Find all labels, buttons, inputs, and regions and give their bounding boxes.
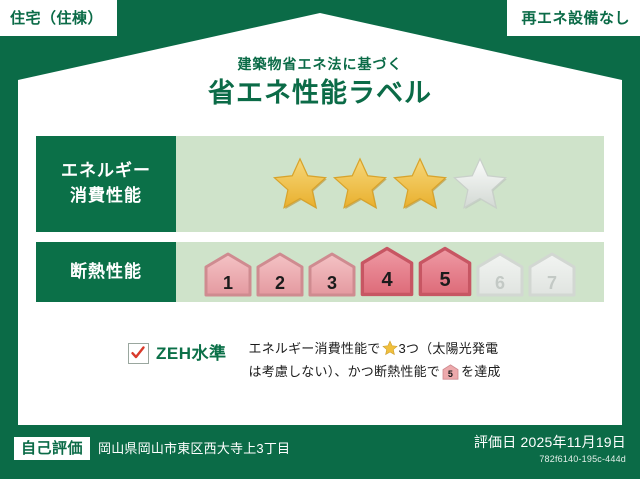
- footer-right: 評価日 2025年11月19日 782f6140-195c-444d: [474, 433, 626, 466]
- chip-building-type-label: 住宅（住棟）: [10, 11, 103, 26]
- zeh-desc-star-count: 3つ（太陽光発電: [399, 341, 499, 356]
- evaluation-date-value: 2025年11月19日: [521, 434, 626, 450]
- zeh-desc-part2: は考慮しない）、かつ断熱性能で: [249, 364, 441, 379]
- chip-renewable-energy-label: 再エネ設備なし: [521, 11, 630, 26]
- title-block: 建築物省エネ法に基づく 省エネ性能ラベル: [0, 56, 640, 111]
- row-insulation-label-line1: 断熱性能: [70, 260, 142, 285]
- insulation-level-number: 6: [475, 274, 525, 292]
- zeh-description: エネルギー消費性能で3つ（太陽光発電は考慮しない）、かつ断熱性能で5を達成: [249, 338, 605, 384]
- insulation-level-badge: 5: [417, 246, 473, 298]
- evaluation-date-label: 評価日: [474, 434, 517, 450]
- insulation-level-number: 5: [417, 270, 473, 290]
- insulation-level-badge: 4: [359, 246, 415, 298]
- insulation-level-number: 2: [255, 274, 305, 292]
- star-icon-inline: [382, 340, 398, 356]
- star-icon-filled: [271, 155, 329, 213]
- chip-renewable-energy: 再エネ設備なし: [507, 0, 640, 36]
- check-icon: [130, 345, 146, 361]
- star-rating: [271, 155, 509, 213]
- page-title: 省エネ性能ラベル: [0, 77, 640, 111]
- row-energy-performance: エネルギー 消費性能: [36, 136, 604, 232]
- star-icon-empty: [451, 155, 509, 213]
- zeh-checkbox[interactable]: [128, 343, 149, 364]
- zeh-desc-house-num: 5: [442, 370, 459, 379]
- row-energy-label-line2: 消費性能: [70, 184, 142, 209]
- energy-performance-label: 住宅（住棟） 再エネ設備なし 建築物省エネ法に基づく 省エネ性能ラベル エネルギ…: [0, 0, 640, 479]
- row-energy-body: [176, 136, 604, 232]
- page-subtitle: 建築物省エネ法に基づく: [0, 56, 640, 73]
- zeh-note: ZEH水準 エネルギー消費性能で3つ（太陽光発電は考慮しない）、かつ断熱性能で5…: [36, 338, 604, 384]
- zeh-badge: ZEH水準: [36, 338, 227, 364]
- property-address: 岡山県岡山市東区西大寺上3丁目: [98, 441, 290, 457]
- insulation-level-badge: 3: [307, 252, 357, 298]
- row-insulation-performance: 断熱性能 1234567: [36, 242, 604, 302]
- insulation-level-badge: 7: [527, 252, 577, 298]
- footer: 自己評価 岡山県岡山市東区西大寺上3丁目 評価日 2025年11月19日 782…: [0, 425, 640, 479]
- house-icon-inline: 5: [442, 364, 459, 380]
- insulation-level-badge: 1: [203, 252, 253, 298]
- insulation-level-number: 1: [203, 274, 253, 292]
- zeh-desc-part3: を達成: [461, 364, 501, 379]
- insulation-level-badge: 6: [475, 252, 525, 298]
- star-icon-filled: [391, 155, 449, 213]
- insulation-level-number: 3: [307, 274, 357, 292]
- insulation-level-scale: 1234567: [203, 246, 577, 298]
- insulation-level-number: 7: [527, 274, 577, 292]
- footer-left: 自己評価 岡山県岡山市東区西大寺上3丁目: [14, 437, 290, 460]
- chip-building-type: 住宅（住棟）: [0, 0, 117, 36]
- row-insulation-label: 断熱性能: [36, 242, 176, 302]
- row-insulation-body: 1234567: [176, 242, 604, 302]
- performance-rows: エネルギー 消費性能 断熱性能 1234567: [36, 136, 604, 312]
- star-icon-filled: [331, 155, 389, 213]
- evaluation-id: 782f6140-195c-444d: [474, 453, 626, 466]
- self-evaluation-chip: 自己評価: [14, 437, 90, 460]
- insulation-level-number: 4: [359, 270, 415, 290]
- row-energy-label: エネルギー 消費性能: [36, 136, 176, 232]
- insulation-level-badge: 2: [255, 252, 305, 298]
- evaluation-date: 評価日 2025年11月19日: [474, 433, 626, 451]
- zeh-desc-part1: エネルギー消費性能で: [249, 341, 381, 356]
- zeh-label: ZEH水準: [156, 345, 227, 362]
- row-energy-label-line1: エネルギー: [61, 159, 151, 184]
